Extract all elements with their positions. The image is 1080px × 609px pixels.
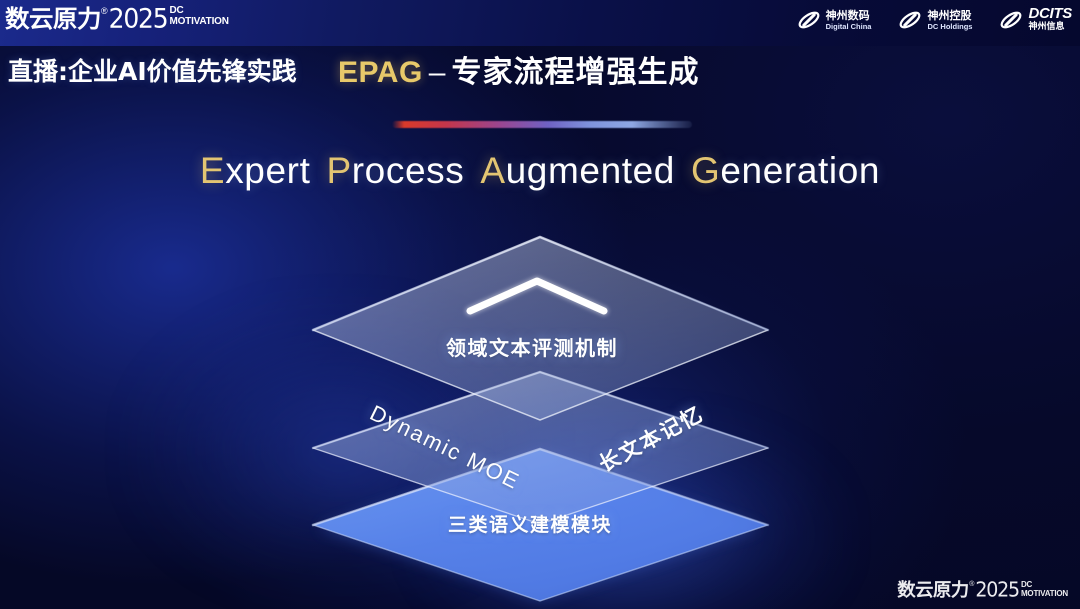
partner-name-cn: 神州信息	[1028, 22, 1072, 33]
partner-logo-dcits[interactable]: DCITS 神州信息	[998, 6, 1072, 33]
swoosh-icon	[897, 7, 923, 33]
watermark-registered-mark: ®	[969, 580, 974, 589]
subtitle-word-process: Process	[326, 150, 464, 191]
watermark-motivation-text: MOTIVATION	[1021, 589, 1068, 598]
partner-logo-group: 神州数码 Digital China 神州控股 DC Holdings DCIT…	[796, 6, 1072, 33]
subtitle-initial: E	[200, 150, 225, 191]
brand-motivation-text: MOTIVATION	[169, 16, 228, 27]
brand-name-cn: 数云原力	[5, 5, 101, 33]
title-acronym: EPAG	[338, 56, 423, 89]
partner-label: 神州控股 DC Holdings	[927, 9, 972, 31]
page-title: EPAG–专家流程增强生成	[338, 54, 699, 92]
subtitle-remainder: ugmented	[506, 150, 675, 191]
title-chinese: 专家流程增强生成	[451, 55, 699, 90]
footer-watermark: 数云原力 ® 2025 DC MOTIVATION	[898, 580, 1068, 601]
watermark-name-cn: 数云原力	[898, 580, 969, 601]
brand-registered-mark: ®	[101, 5, 108, 17]
english-subtitle: ExpertProcessAugmentedGeneration	[0, 150, 1080, 192]
partner-logo-dc-holdings[interactable]: 神州控股 DC Holdings	[897, 7, 972, 33]
subtitle-remainder: rocess	[352, 150, 465, 191]
swoosh-icon	[998, 7, 1024, 33]
watermark-dc-text: DC	[1021, 581, 1068, 589]
subtitle-initial: P	[326, 150, 351, 191]
subtitle-remainder: xpert	[225, 150, 310, 191]
partner-label: 神州数码 Digital China	[826, 9, 872, 31]
live-broadcast-title: 直播:企业AI价值先锋实践	[8, 52, 297, 88]
swoosh-icon	[796, 7, 822, 33]
brand-dc-text: DC	[169, 6, 228, 16]
brand-year: 2025	[109, 4, 168, 33]
subtitle-remainder: eneration	[720, 150, 880, 191]
partner-name-en: DC Holdings	[927, 22, 972, 31]
subtitle-initial: A	[480, 150, 505, 191]
subtitle-word-expert: Expert	[200, 150, 311, 191]
title-dash: –	[429, 56, 446, 89]
partner-name-en: Digital China	[826, 22, 872, 31]
brand-logo: 数云原力 ® 2025 DC MOTIVATION	[6, 5, 229, 33]
subtitle-word-generation: Generation	[691, 150, 880, 191]
subtitle-word-augmented: Augmented	[480, 150, 675, 191]
partner-name-cn: 神州控股	[927, 9, 972, 22]
brand-dc-motivation: DC MOTIVATION	[169, 6, 228, 27]
layer-top[interactable]	[313, 237, 768, 420]
watermark-year: 2025	[975, 579, 1019, 601]
slide-canvas: 领域文本评测机制 Dynamic MOE 长文本记忆 三类语义建模模块 数云原力…	[0, 0, 1080, 609]
subtitle-initial: G	[691, 150, 720, 191]
partner-label: DCITS 神州信息	[1028, 6, 1072, 33]
partner-name-cn: 神州数码	[826, 9, 872, 22]
accent-divider	[392, 121, 692, 128]
partner-logo-digital-china[interactable]: 神州数码 Digital China	[796, 7, 872, 33]
partner-name-en: DCITS	[1028, 6, 1072, 22]
watermark-dc-motivation: DC MOTIVATION	[1021, 581, 1068, 598]
